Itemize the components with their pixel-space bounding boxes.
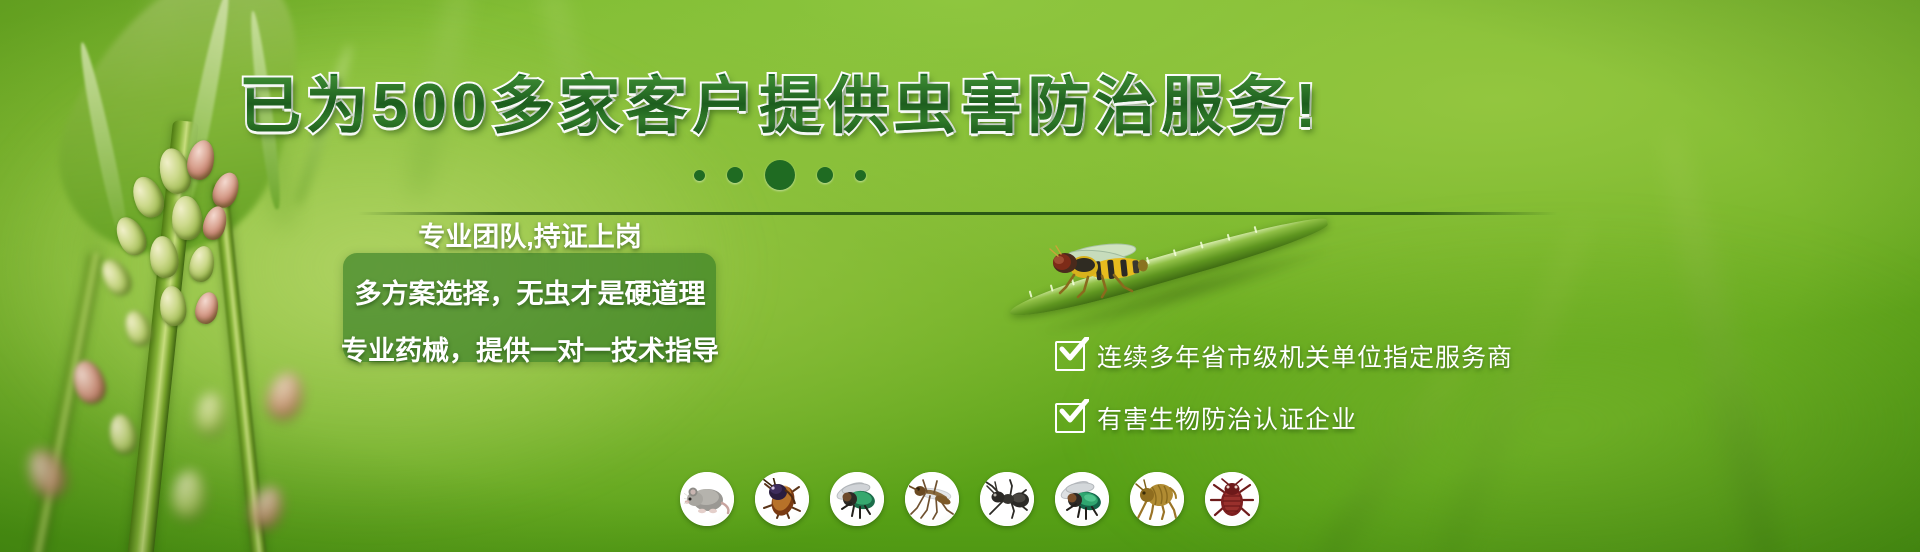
greenbottle-fly-icon[interactable] bbox=[1055, 472, 1109, 526]
claim-line: 专业药械，提供一对一技术指导 bbox=[341, 329, 719, 368]
ant-icon[interactable] bbox=[980, 472, 1034, 526]
dot-medium-icon bbox=[727, 167, 743, 183]
ornament-dots bbox=[0, 160, 1560, 190]
flea-icon[interactable] bbox=[1130, 472, 1184, 526]
credentials-list: 连续多年省市级机关单位指定服务商 有害生物防治认证企业 bbox=[1055, 338, 1513, 436]
promo-banner: 已为500多家客户提供虫害防治服务! 已为500多家客户提供虫害防治服务! 专业… bbox=[0, 0, 1920, 552]
blowfly-icon[interactable] bbox=[830, 472, 884, 526]
claims-list: 专业团队,持证上岗 多方案选择，无虫才是硬道理 专业药械，提供一对一技术指导 bbox=[330, 215, 730, 368]
checkbox-checked-icon bbox=[1055, 341, 1085, 371]
pest-icon-row bbox=[680, 472, 1259, 526]
cockroach-icon[interactable] bbox=[755, 472, 809, 526]
list-item: 连续多年省市级机关单位指定服务商 bbox=[1055, 338, 1513, 374]
check-icon bbox=[1059, 337, 1089, 363]
claim-line: 多方案选择，无虫才是硬道理 bbox=[355, 272, 706, 311]
dot-large-icon bbox=[765, 160, 795, 190]
credential-label: 有害生物防治认证企业 bbox=[1097, 400, 1357, 436]
list-item: 有害生物防治认证企业 bbox=[1055, 400, 1513, 436]
rodent-icon[interactable] bbox=[680, 472, 734, 526]
mosquito-icon[interactable] bbox=[905, 472, 959, 526]
dot-small-icon bbox=[694, 170, 705, 181]
dot-small-icon bbox=[855, 170, 866, 181]
bedbug-icon[interactable] bbox=[1205, 472, 1259, 526]
check-icon bbox=[1059, 399, 1089, 425]
checkbox-checked-icon bbox=[1055, 403, 1085, 433]
credential-label: 连续多年省市级机关单位指定服务商 bbox=[1097, 338, 1513, 374]
dot-medium-icon bbox=[817, 167, 833, 183]
page-title: 已为500多家客户提供虫害防治服务! bbox=[0, 76, 1560, 138]
claim-line: 专业团队,持证上岗 bbox=[418, 215, 642, 254]
